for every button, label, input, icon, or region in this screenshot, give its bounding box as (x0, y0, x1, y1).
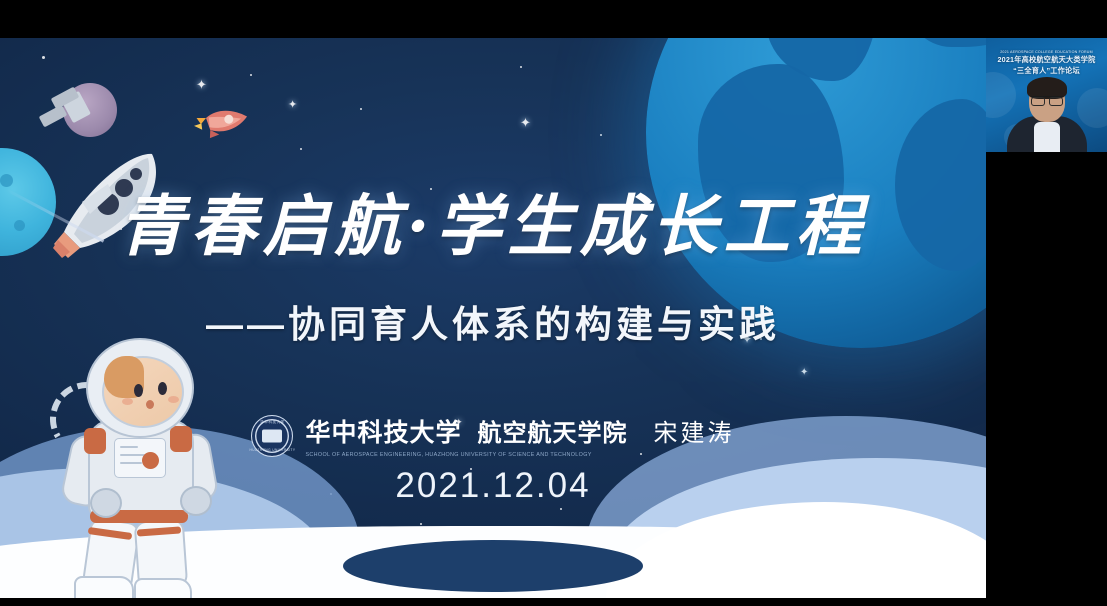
presentation-slide: ✦ ✦ ✦ ✦ ✦ ✦ ✦ ✦ ✦ ✦ ✦ (0, 38, 986, 598)
slide-title: 青春启航·学生成长工程 (0, 173, 986, 269)
video-banner-line1: 2021年高校航空航天大类学院 (997, 55, 1095, 64)
video-banner-text: 2021 AEROSPACE COLLEGE EDUCATION FORUM 2… (986, 50, 1107, 76)
affiliation-block: 华中科技大学 HUAZHONG UNIVERSITY 华中科技大学 航空航天学院… (0, 413, 986, 458)
satellite-icon (38, 88, 108, 138)
slide-date: 2021.12.04 (0, 466, 986, 506)
screen-recording-frame: ✦ ✦ ✦ ✦ ✦ ✦ ✦ ✦ ✦ ✦ ✦ (0, 0, 1107, 606)
seal-top-text: 华中科技大学 (260, 420, 285, 425)
frozen-pond (343, 540, 643, 592)
speaker-name: 宋建涛 (654, 413, 735, 448)
university-english-name: SCHOOL OF AEROSPACE ENGINEERING, HUAZHON… (305, 452, 591, 458)
speaker-figure (1004, 80, 1090, 152)
seal-bottom-text: HUAZHONG UNIVERSITY (250, 448, 296, 452)
letterbox-bar-bottom (0, 598, 1107, 606)
right-black-filler (986, 152, 1107, 606)
speaker-video-tile[interactable]: 2021 AEROSPACE COLLEGE EDUCATION FORUM 2… (986, 38, 1107, 152)
school-name: 航空航天学院 (478, 413, 628, 448)
slide-subtitle: ——协同育人体系的构建与实践 (0, 294, 986, 348)
university-name: 华中科技大学 (305, 413, 461, 449)
letterbox-bar-top (0, 0, 1107, 38)
university-seal-icon: 华中科技大学 HUAZHONG UNIVERSITY (251, 415, 293, 457)
video-banner-line2: “三全育人”工作论坛 (1013, 66, 1080, 75)
affiliation-text: 华中科技大学 航空航天学院 宋建涛 SCHOOL OF AEROSPACE EN… (305, 413, 734, 458)
rocket-icon (188, 91, 252, 154)
